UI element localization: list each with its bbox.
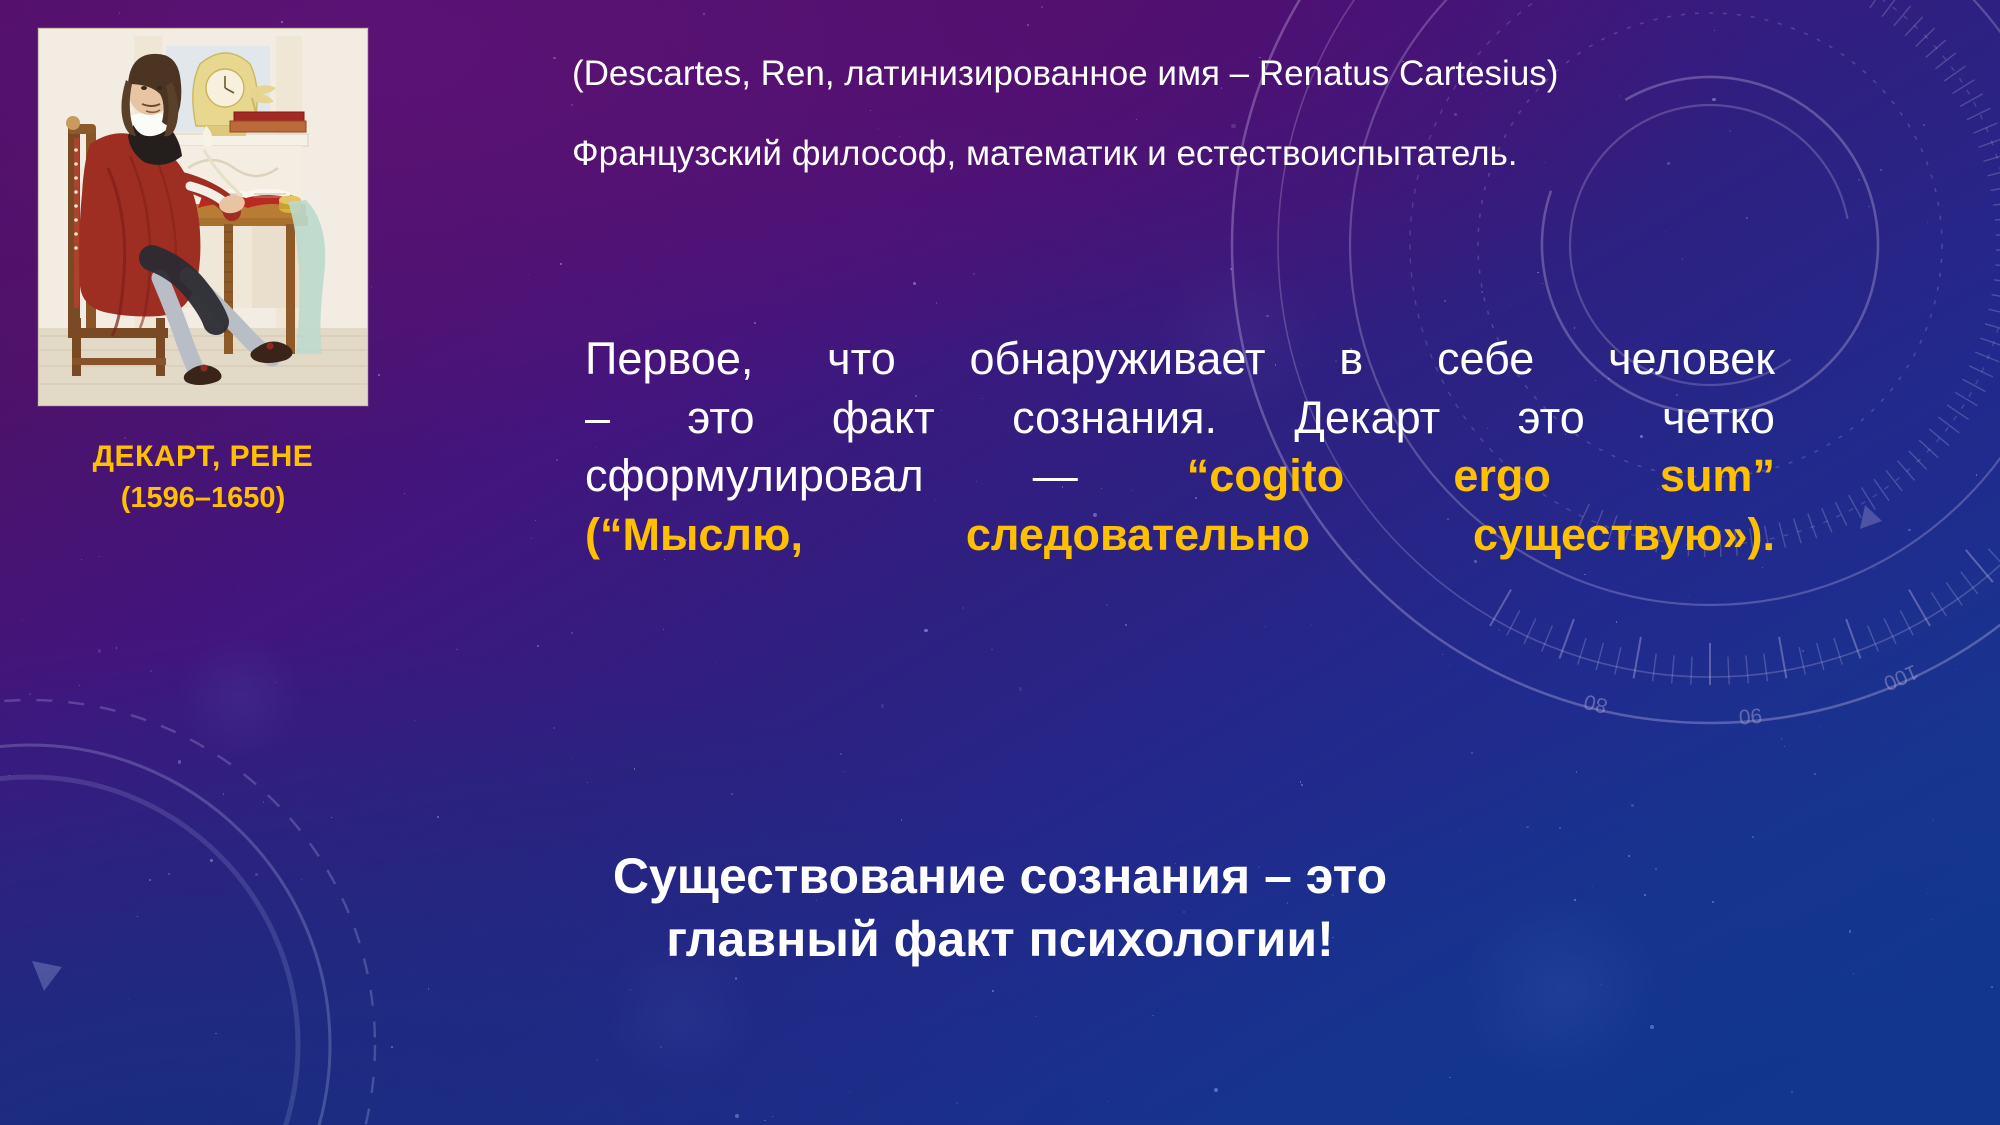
quote-word: — <box>1033 447 1078 506</box>
descartes-portrait-image <box>38 28 368 406</box>
headline-line-1: Существование сознания – это <box>0 845 2000 908</box>
quote-word: это <box>1518 389 1585 448</box>
slide-canvas: 2102001801701601501401301101009080 <box>0 0 2000 1125</box>
quote-line-3: сформулировал—“cogitoergosum” <box>585 447 1775 506</box>
portrait-caption-years: (1596–1650) <box>38 482 368 515</box>
quote-word: – <box>585 389 610 448</box>
portrait-caption-name: ДЕКАРТ, РЕНЕ <box>38 440 368 474</box>
quote-line-2: –этофактсознания.Декартэточетко <box>585 389 1775 448</box>
header-line-description: Французский философ, математик и естеств… <box>572 136 1932 171</box>
portrait-block: ДЕКАРТ, РЕНЕ (1596–1650) <box>38 28 368 515</box>
quote-block: Первое, что обнаруживает в себе человек … <box>585 330 1775 564</box>
svg-text:90: 90 <box>1738 703 1763 728</box>
quote-word: сформулировал <box>585 447 924 506</box>
quote-line-4: (“Мыслю, следовательно существую»). <box>585 506 1775 565</box>
header-line-latin-name: (Descartes, Ren, латинизированное имя – … <box>572 56 1932 91</box>
quote-word: sum” <box>1660 447 1775 506</box>
quote-word: это <box>687 389 754 448</box>
quote-line-1: Первое, что обнаруживает в себе человек <box>585 330 1775 389</box>
quote-word: сознания. <box>1012 389 1217 448</box>
quote-word: Декарт <box>1294 389 1440 448</box>
headline-line-2: главный факт психологии! <box>0 908 2000 971</box>
quote-word: четко <box>1662 389 1775 448</box>
headline-block: Существование сознания – это главный фак… <box>0 845 2000 971</box>
quote-word: “cogito <box>1187 447 1344 506</box>
quote-word: ergo <box>1453 447 1551 506</box>
svg-text:80: 80 <box>1582 689 1610 717</box>
header-text-block: (Descartes, Ren, латинизированное имя – … <box>572 56 1932 171</box>
quote-word: факт <box>832 389 935 448</box>
svg-text:100: 100 <box>1880 660 1921 695</box>
